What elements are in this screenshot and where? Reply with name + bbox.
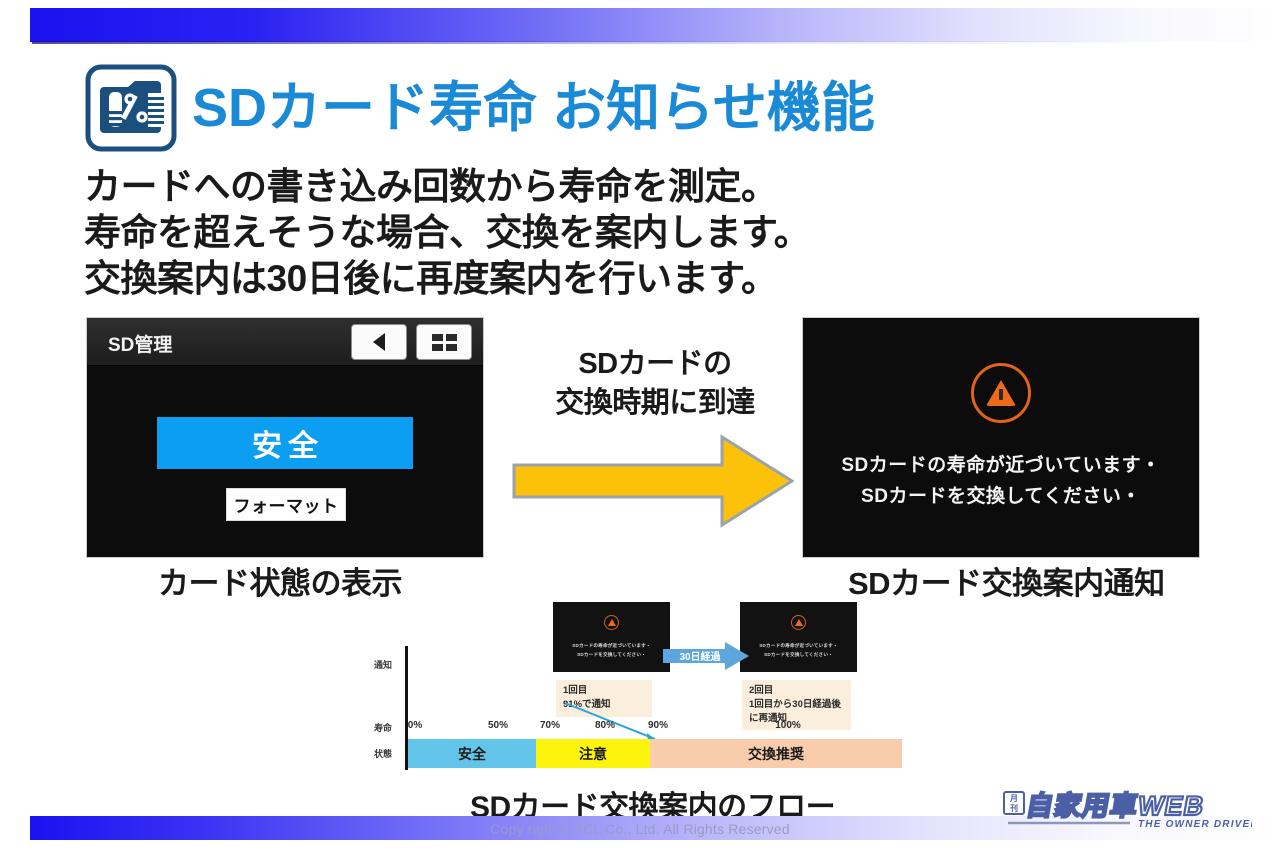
lead-line-2: 寿命を超えそうな場合、交換を案内します。 [84, 210, 810, 256]
format-button-label: フォーマット [234, 492, 339, 517]
mini-device-screen-second-notice: SDカードの寿命が近づいています・ SDカードを交換してください・ [740, 602, 857, 672]
tick-label-100: 100% [775, 720, 801, 731]
transition-caption-line-1: SDカードの [535, 345, 775, 384]
warning-message: SDカードの寿命が近づいています・ SDカードを交換してください・ [841, 451, 1160, 512]
device-title-label: SD管理 [108, 330, 172, 357]
mini-warning-message: SDカードの寿命が近づいています・ SDカードを交換してください・ [572, 642, 651, 658]
row-label-notification: 通知 [374, 658, 392, 671]
device-screen-card-status: SD管理 安全 フォーマット [86, 317, 484, 558]
device-screen-replacement-notice: SDカードの寿命が近づいています・ SDカードを交換してください・ [802, 317, 1200, 558]
format-button[interactable]: フォーマット [226, 488, 346, 521]
mini-warning-line-2: SDカードを交換してください・ [572, 651, 651, 659]
tick-label-90: 90% [648, 720, 668, 731]
callout-second-line-1: 2回目 [749, 684, 844, 698]
page-title: SDカード寿命 お知らせ機能 [192, 81, 875, 135]
slide-root: SDカード寿命 お知らせ機能 カードへの書き込み回数から寿命を測定。 寿命を超え… [0, 0, 1280, 850]
mini-device-screen-first-notice: SDカードの寿命が近づいています・ SDカードを交換してください・ [553, 602, 670, 672]
svg-text:刊: 刊 [1010, 803, 1018, 813]
top-bar-shadow [32, 41, 1280, 44]
mini-warning-line-1: SDカードの寿命が近づいています・ [572, 642, 651, 650]
mini-warning-line-1: SDカードの寿命が近づいています・ [759, 642, 838, 650]
tick-label-50: 50% [488, 720, 508, 731]
tick-label-0: 0% [408, 720, 422, 731]
caption-card-status: カード状態の表示 [158, 558, 402, 603]
top-gradient-bar [30, 8, 1280, 42]
card-status-label: 安全 [246, 421, 324, 465]
segment-safe: 安全 [408, 739, 536, 768]
right-arrow-icon [512, 433, 794, 529]
brand-logo: 月 刊 自家用車WEB THE OWNER DRIVER [1002, 786, 1252, 832]
triangle-left-icon [373, 333, 385, 351]
lead-paragraph: カードへの書き込み回数から寿命を測定。 寿命を超えそうな場合、交換を案内します。… [84, 164, 810, 302]
callout-second-line-2: 1回目から30日経過後 [749, 698, 844, 712]
back-button[interactable] [351, 324, 407, 360]
warning-message-line-2: SDカードを交換してください・ [841, 482, 1160, 512]
page-header: SDカード寿命 お知らせ機能 [84, 64, 875, 152]
svg-text:THE OWNER DRIVER: THE OWNER DRIVER [1138, 819, 1252, 830]
grid-view-icon [432, 334, 457, 351]
sd-card-percent-icon [84, 64, 178, 152]
card-status-indicator: 安全 [157, 417, 413, 469]
svg-text:自家用車WEB: 自家用車WEB [1024, 790, 1207, 821]
mini-warning-message: SDカードの寿命が近づいています・ SDカードを交換してください・ [759, 642, 838, 658]
segment-replace-rec: 交換推奨 [650, 739, 902, 768]
row-label-lifespan: 寿命 [374, 721, 392, 734]
lifespan-flow-chart: 通知 寿命 状態 SDカードの寿命が近づいています・ SDカードを交換してくださ… [370, 596, 910, 776]
transition-caption-line-2: 交換時期に到達 [535, 384, 775, 423]
svg-text:月: 月 [1009, 794, 1018, 803]
grid-view-button[interactable] [416, 324, 472, 360]
row-label-state: 状態 [374, 747, 392, 760]
tick-label-80: 80% [595, 720, 615, 731]
lead-line-1: カードへの書き込み回数から寿命を測定。 [84, 164, 810, 210]
elapsed-days-label: 30日経過 [669, 648, 731, 663]
mini-warning-line-2: SDカードを交換してください・ [759, 651, 838, 659]
tick-label-70: 70% [540, 720, 560, 731]
warning-triangle-icon [971, 363, 1031, 423]
segment-caution: 注意 [536, 739, 650, 768]
transition-caption: SDカードの 交換時期に到達 [535, 345, 775, 423]
warning-message-line-1: SDカードの寿命が近づいています・ [841, 451, 1160, 481]
lead-line-3: 交換案内は30日後に再度案内を行います。 [84, 256, 810, 302]
warning-triangle-icon [791, 615, 806, 630]
device-titlebar: SD管理 [87, 318, 483, 366]
warning-triangle-icon [604, 615, 619, 630]
